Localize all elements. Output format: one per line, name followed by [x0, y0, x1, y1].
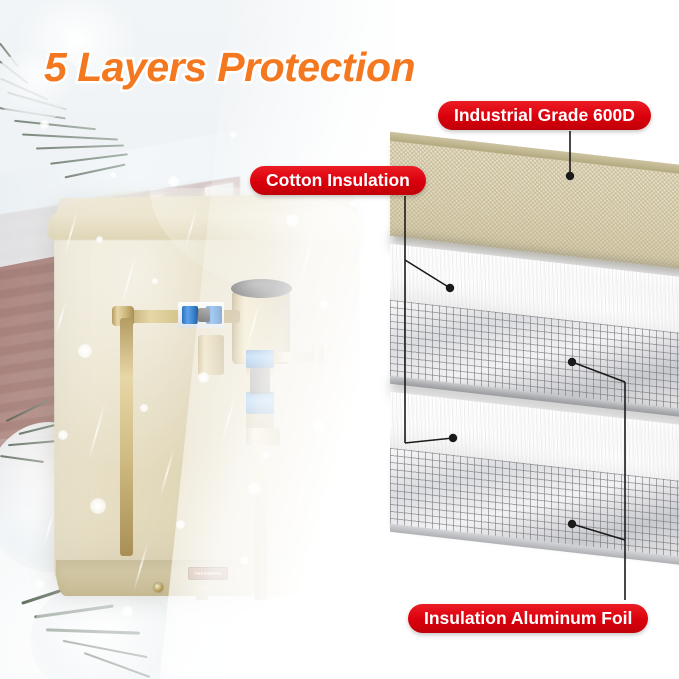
- callout-cotton-insulation: Cotton Insulation: [250, 166, 426, 195]
- bonnet-cap: [231, 279, 292, 298]
- mounting-bracket: [198, 335, 224, 375]
- cover-strap: [196, 586, 208, 600]
- callout-industrial-grade-600d: Industrial Grade 600D: [438, 101, 651, 130]
- page-title: 5 Layers Protection: [44, 44, 415, 91]
- winter-scene-photo: THERMPRO: [0, 0, 395, 679]
- brand-tag: THERMPRO: [188, 567, 228, 580]
- grommet: [154, 583, 163, 592]
- product-infographic: THERMPRO: [0, 0, 679, 679]
- blue-handle-left: [182, 306, 198, 324]
- blue-handle-lower: [246, 392, 274, 414]
- union-nut: [246, 428, 280, 446]
- relief-port-cap: [312, 345, 324, 367]
- supply-riser-pipe: [120, 318, 133, 556]
- valve-label-plate: [250, 368, 270, 394]
- blue-handle-upper: [246, 350, 274, 368]
- callout-insulation-aluminum-foil: Insulation Aluminum Foil: [408, 604, 648, 633]
- test-cock-plate: [198, 308, 210, 322]
